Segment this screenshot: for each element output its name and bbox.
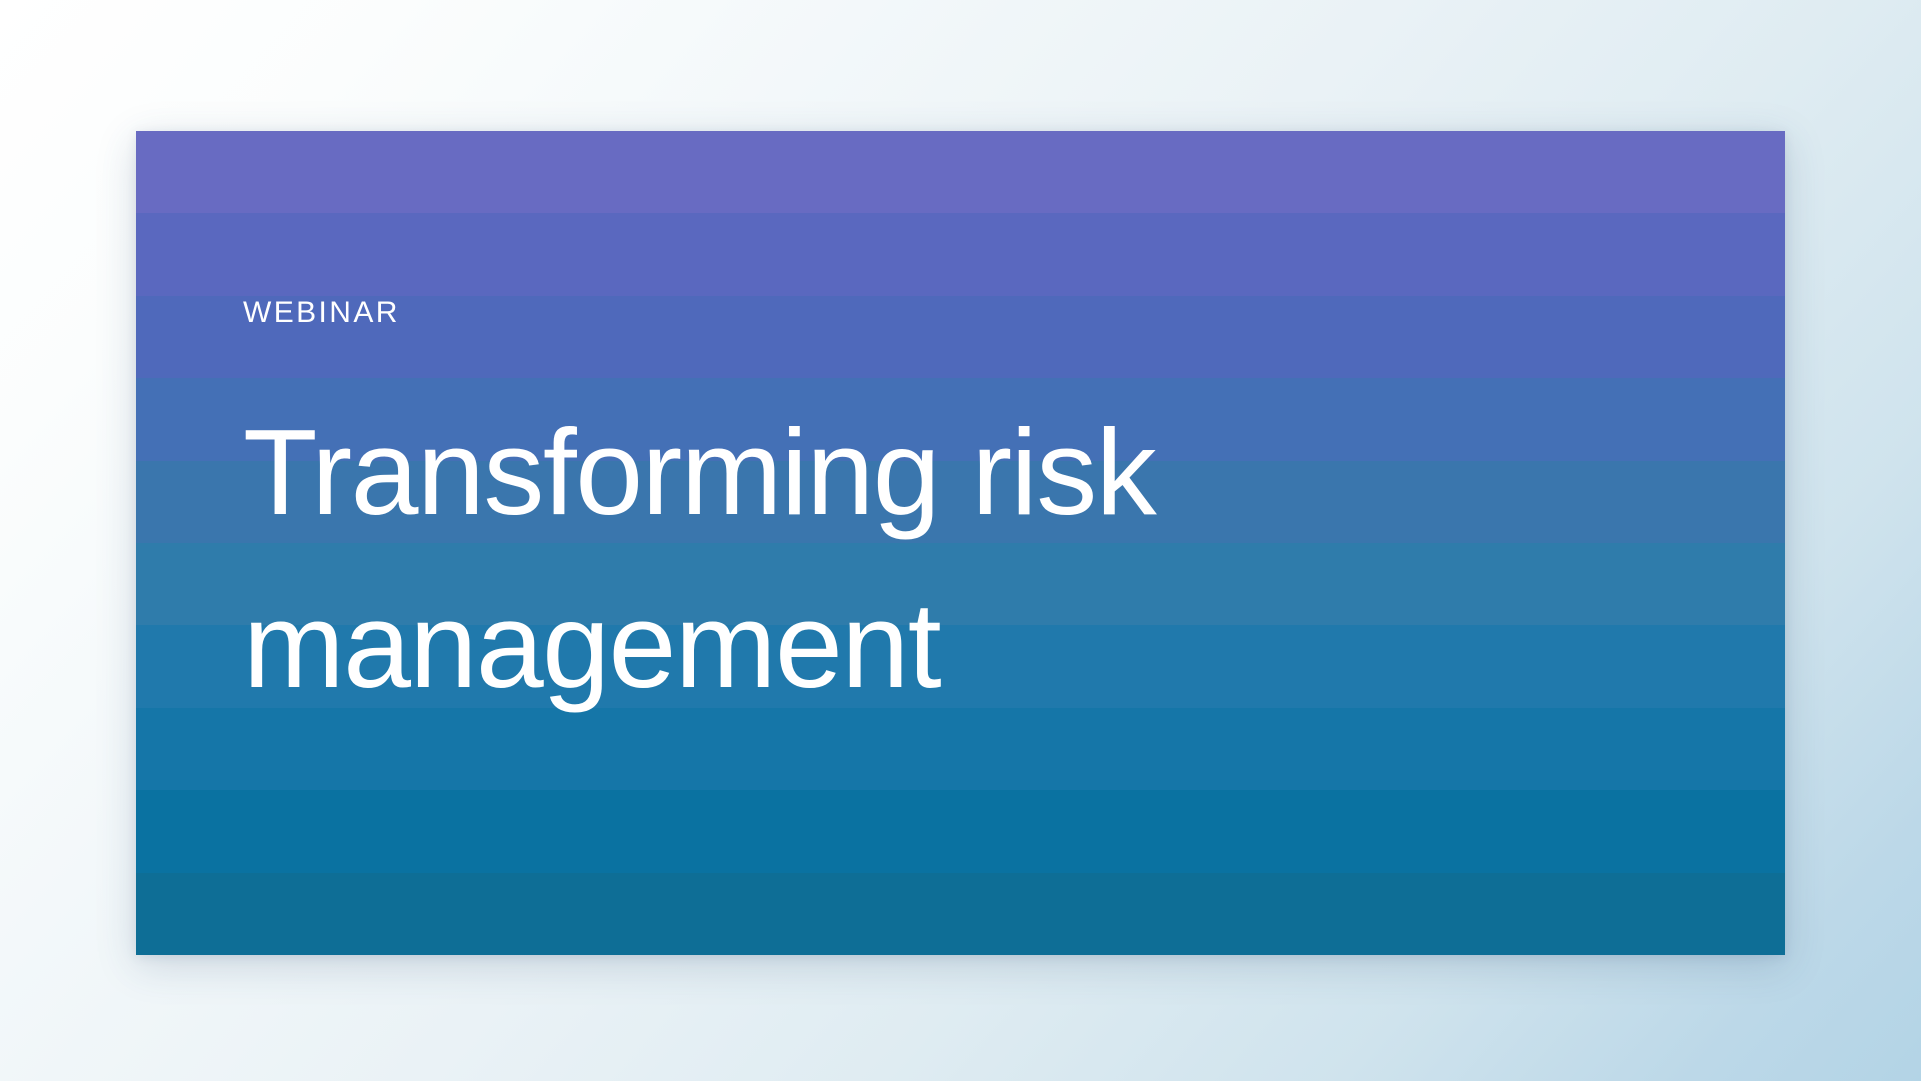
gradient-band-5 xyxy=(136,461,1785,544)
gradient-band-9 xyxy=(136,790,1785,873)
gradient-band-3 xyxy=(136,296,1785,379)
webinar-title-card: WEBINAR Transforming risk management xyxy=(136,131,1785,955)
gradient-band-2 xyxy=(136,213,1785,296)
gradient-band-6 xyxy=(136,543,1785,626)
gradient-band-8 xyxy=(136,708,1785,791)
gradient-band-7 xyxy=(136,625,1785,708)
gradient-band-4 xyxy=(136,378,1785,461)
gradient-band-10 xyxy=(136,873,1785,955)
gradient-band-1 xyxy=(136,131,1785,214)
